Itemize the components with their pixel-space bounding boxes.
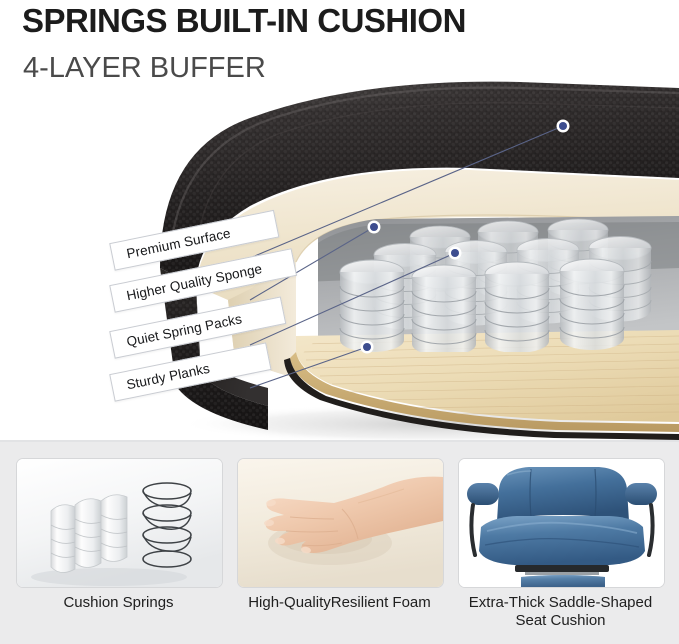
feature-strip: Cushion Springs High-QualityResilient Fo…: [0, 442, 679, 644]
feature-card-saddle-seat-cushion: [458, 458, 665, 588]
feature-caption-saddle-seat-cushion: Extra-Thick Saddle-Shaped Seat Cushion: [458, 594, 663, 630]
cutaway-illustration: Premium Surface Higher Quality Sponge Qu…: [0, 0, 679, 440]
feature-card-cushion-springs: [16, 458, 223, 588]
spring-column: [560, 259, 624, 350]
spring-pocket: [75, 499, 101, 568]
pocket-springs-photo: [17, 459, 222, 587]
spring-pocket: [101, 495, 127, 562]
spring-pocket: [51, 505, 75, 573]
chair-backrest: [497, 467, 629, 521]
feature-caption-cushion-springs: Cushion Springs: [16, 594, 221, 612]
hand-pressing-foam-photo: [238, 459, 443, 587]
section-divider: [0, 440, 679, 442]
cutaway-svg: [0, 0, 679, 440]
chair-base-mechanism: [515, 565, 609, 575]
spring-column: [340, 260, 404, 352]
spring-column: [485, 262, 549, 353]
feature-card-resilient-foam: [237, 458, 444, 588]
spring-column: [412, 265, 476, 356]
chair-seat-cushion: [479, 516, 645, 565]
blue-office-chair-photo: [459, 459, 664, 587]
feature-caption-resilient-foam: High-QualityResilient Foam: [237, 594, 442, 612]
